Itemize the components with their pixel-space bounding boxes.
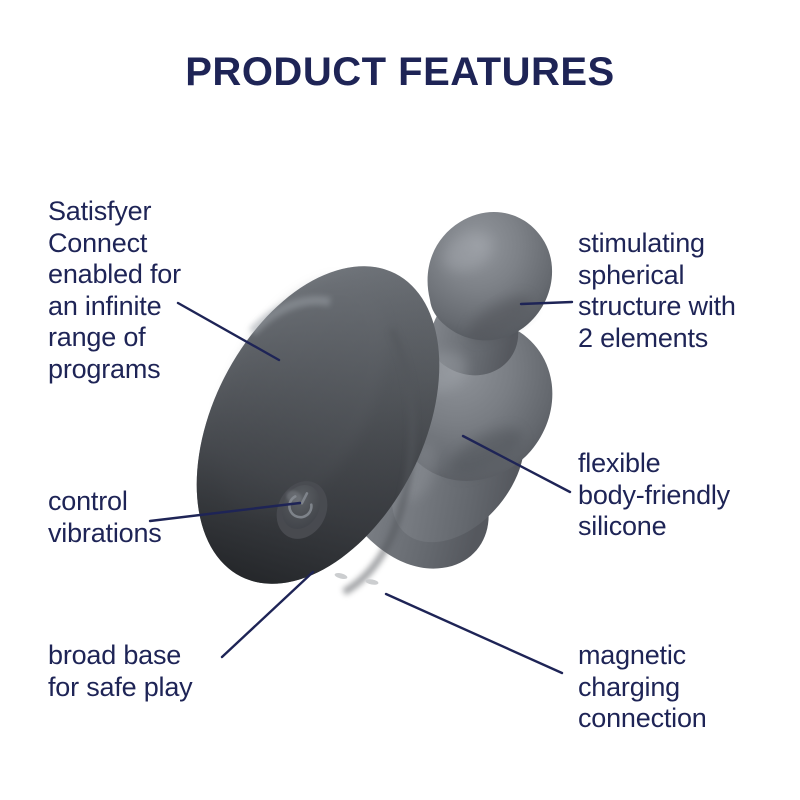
callout-label-satisfyer-connect: Satisfyer Connect enabled for an infinit… (48, 196, 181, 385)
callout-label-magnetic-charging: magnetic charging connection (578, 640, 707, 735)
callout-label-broad-base: broad base for safe play (48, 640, 192, 703)
callout-label-flexible-silicone: flexible body-friendly silicone (578, 448, 730, 543)
callout-label-stimulating-spherical-structure: stimulating spherical structure with 2 e… (578, 228, 736, 354)
leader-line-base (222, 572, 313, 657)
product-features-infographic: PRODUCT FEATURES (0, 0, 800, 800)
charging-pin-2 (365, 578, 379, 585)
callout-label-control-vibrations: control vibrations (48, 486, 162, 549)
leader-line-magnetic (386, 594, 562, 673)
charging-pin-1 (334, 572, 348, 580)
product-graphic (147, 212, 552, 624)
